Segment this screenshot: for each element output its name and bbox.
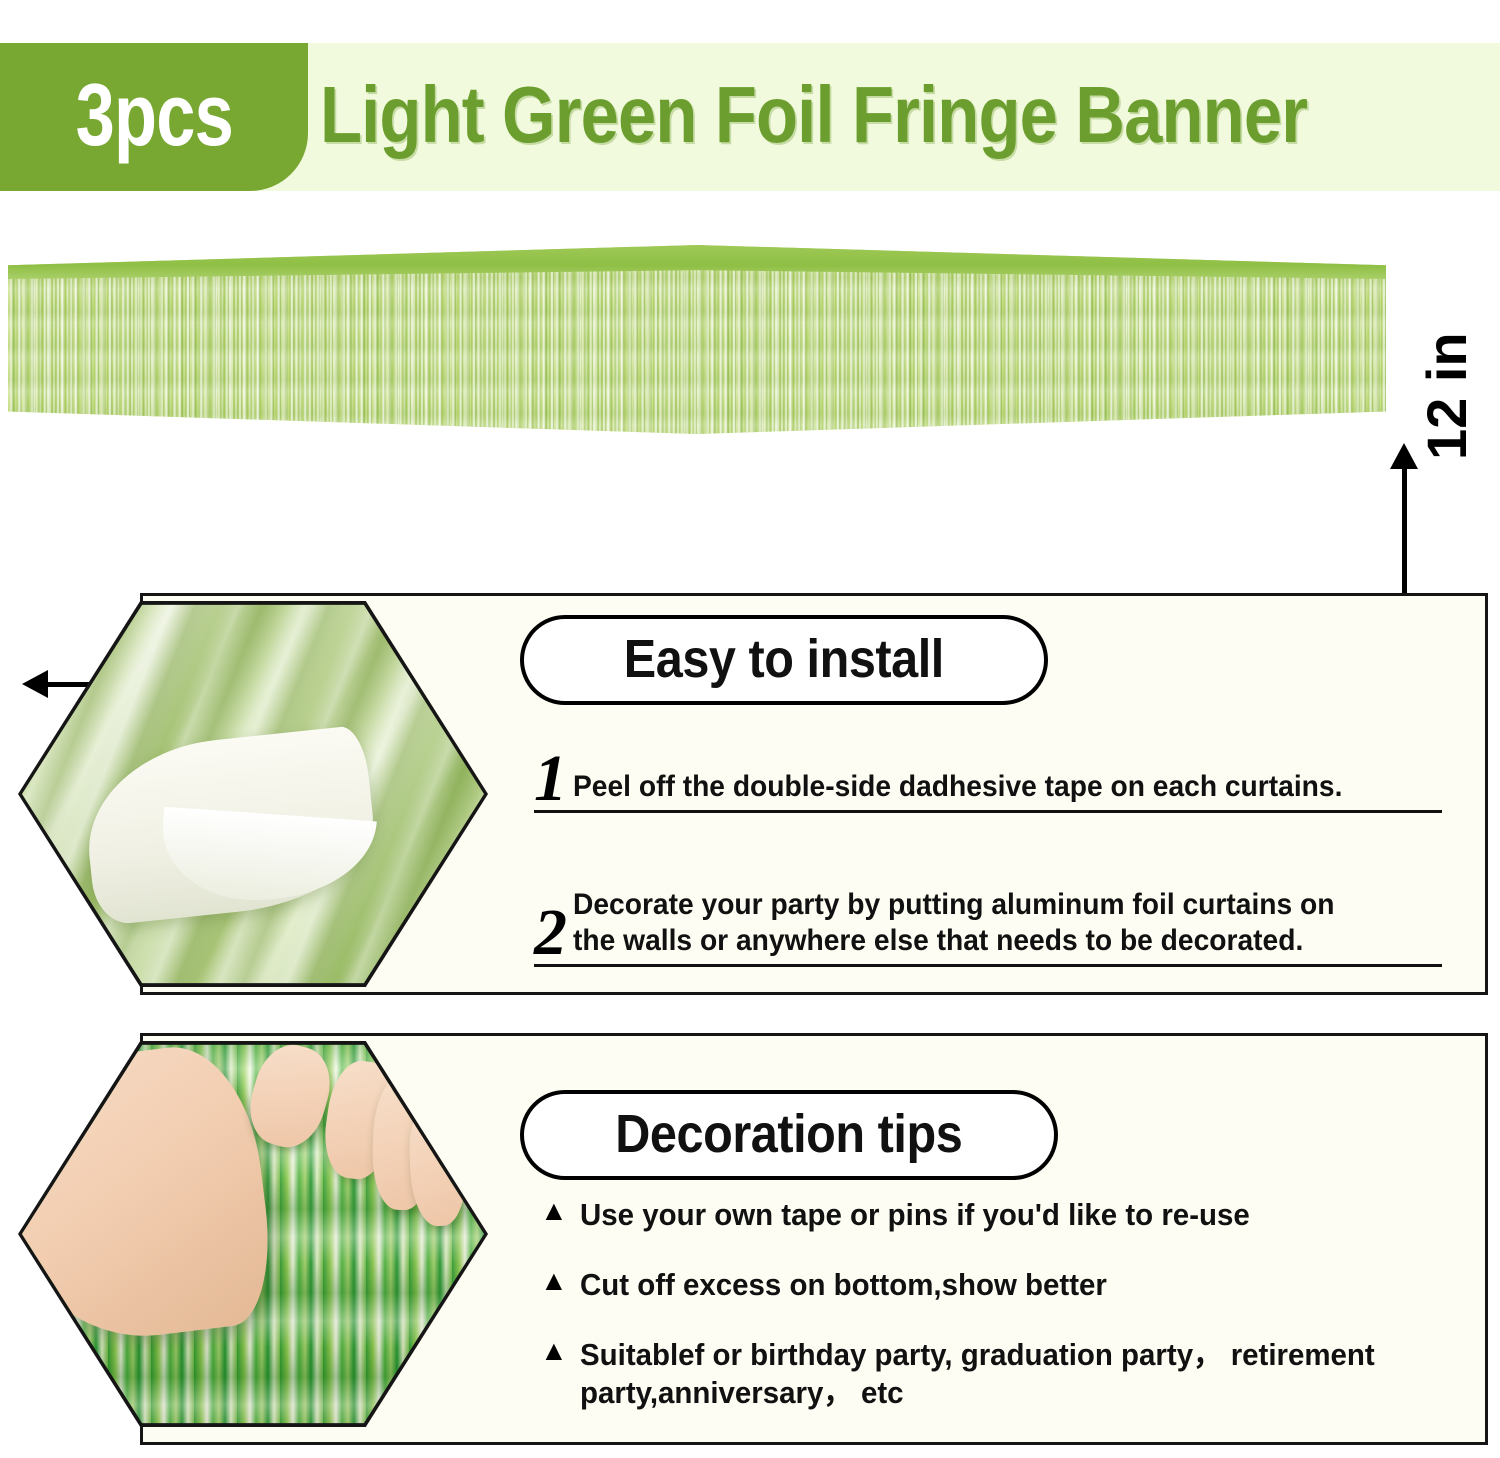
panel-heading-install: Easy to install [624,632,944,686]
quantity-badge-label: 3pcs [75,71,232,159]
fringe-garland-graphic [8,245,1386,470]
hand-palm [22,1038,279,1351]
triangle-bullet-icon: ▲ [540,1336,568,1365]
page-title: Light Green Foil Fringe Banner [320,75,1307,155]
step-text-1: Peel off the double-side dadhesive tape … [573,769,1342,810]
tip-text-3: Suitablef or birthday party, graduation … [580,1336,1375,1412]
panel-heading-tips: Decoration tips [615,1107,962,1161]
install-step-2: 2 Decorate your party by putting aluminu… [534,862,1442,967]
heading-pill-easy-to-install: Easy to install [520,615,1048,705]
step-number-1: 1 [534,749,567,810]
hand-finger [407,1099,469,1228]
tips-photo-hexagon [18,1033,488,1435]
step-number-2: 2 [534,903,567,964]
hero-product-section: 10 ft 12 in [0,215,1500,545]
quantity-badge: 3pcs [0,43,308,191]
tip-text-2: Cut off excess on bottom,show better [580,1266,1107,1304]
photo-adhesive-tape [22,597,484,991]
tip-item: ▲ Suitablef or birthday party, graduatio… [540,1336,1440,1412]
install-photo-hexagon [18,593,488,995]
photo-hand-holding-fringe [22,1037,484,1431]
tip-item: ▲ Cut off excess on bottom,show better [540,1266,1440,1304]
triangle-bullet-icon: ▲ [540,1266,568,1295]
step-text-2: Decorate your party by putting aluminum … [573,887,1334,964]
header-banner: 3pcs Light Green Foil Fringe Banner [0,43,1500,191]
install-step-1: 1 Peel off the double-side dadhesive tap… [534,748,1442,813]
height-dimension-label: 12 in [1414,260,1479,460]
tip-text-1: Use your own tape or pins if you'd like … [580,1196,1250,1234]
tip-item: ▲ Use your own tape or pins if you'd lik… [540,1196,1440,1234]
product-title-container: Light Green Foil Fringe Banner [320,43,1468,191]
foil-texture [22,597,484,991]
heading-pill-decoration-tips: Decoration tips [520,1090,1058,1180]
product-image-fringe-garland [8,245,1386,470]
triangle-bullet-icon: ▲ [540,1196,568,1225]
fringe-shine-overlay [8,245,1386,470]
shiny-fringe-texture [22,1037,484,1431]
